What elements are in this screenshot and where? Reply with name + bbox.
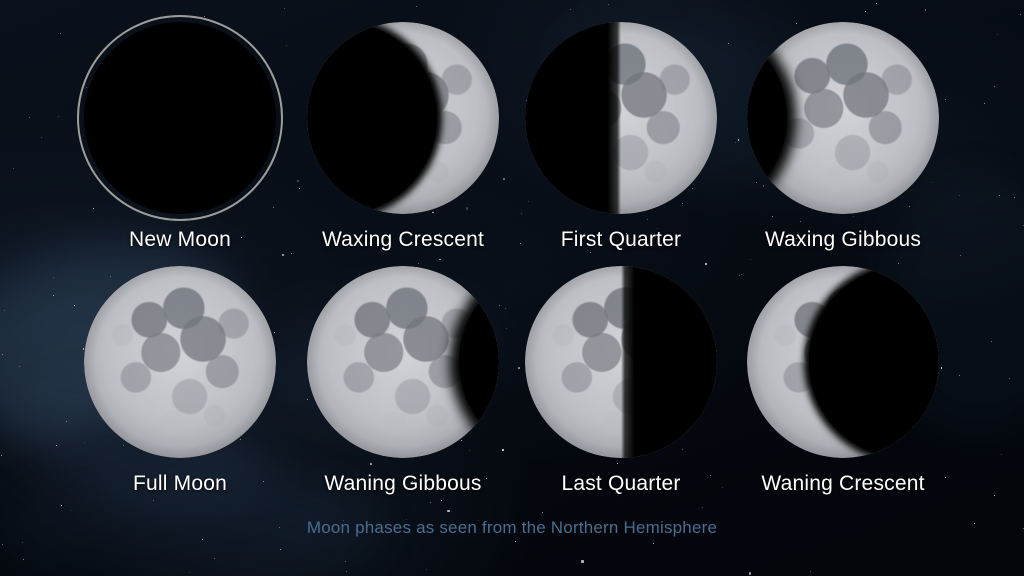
phase-label-waxing-crescent: Waxing Crescent bbox=[293, 228, 513, 252]
limb-darkening bbox=[84, 266, 276, 458]
new-moon-outline-ring bbox=[77, 15, 283, 221]
phase-cell-waning-crescent: Waning Crescent bbox=[733, 266, 953, 516]
terminator-shadow bbox=[809, 266, 939, 458]
star bbox=[23, 559, 24, 560]
star bbox=[653, 543, 654, 544]
terminator-shadow bbox=[307, 22, 437, 214]
moon-disk-waning-crescent bbox=[747, 266, 939, 458]
moon-disk-waning-gibbous bbox=[307, 266, 499, 458]
phase-label-full-moon: Full Moon bbox=[70, 472, 290, 496]
moon-disk-full-moon bbox=[84, 266, 276, 458]
star bbox=[2, 544, 3, 545]
star bbox=[749, 572, 751, 574]
phase-label-new-moon: New Moon bbox=[70, 228, 290, 252]
shadow-clip bbox=[525, 266, 717, 458]
star bbox=[426, 569, 427, 570]
star bbox=[876, 3, 878, 5]
star bbox=[214, 558, 216, 560]
shadow-clip bbox=[525, 22, 717, 214]
phase-cell-last-quarter: Last Quarter bbox=[511, 266, 731, 516]
shadow-clip bbox=[747, 22, 939, 214]
star bbox=[515, 541, 516, 542]
terminator-shadow bbox=[747, 22, 787, 214]
figure-caption: Moon phases as seen from the Northern He… bbox=[0, 518, 1024, 538]
phase-label-first-quarter: First Quarter bbox=[511, 228, 731, 252]
star bbox=[204, 16, 205, 17]
star bbox=[284, 8, 285, 9]
star bbox=[608, 4, 610, 6]
star bbox=[925, 9, 927, 11]
moon-disk-last-quarter bbox=[525, 266, 717, 458]
phase-cell-new-moon: New Moon bbox=[70, 22, 290, 272]
waning-row: Full Moon Waning Gibbous bbox=[0, 266, 1024, 516]
phase-label-waxing-gibbous: Waxing Gibbous bbox=[733, 228, 953, 252]
phase-cell-waning-gibbous: Waning Gibbous bbox=[293, 266, 513, 516]
phase-cell-waxing-crescent: Waxing Crescent bbox=[293, 22, 513, 272]
star bbox=[416, 6, 417, 7]
star bbox=[22, 542, 23, 543]
star bbox=[581, 560, 583, 562]
phase-label-last-quarter: Last Quarter bbox=[511, 472, 731, 496]
terminator-shadow bbox=[525, 22, 621, 214]
star bbox=[1020, 14, 1021, 15]
star bbox=[865, 11, 866, 12]
moon-disk-waxing-crescent bbox=[307, 22, 499, 214]
moon-phases-figure: New Moon Waxing Crescent bbox=[0, 0, 1024, 576]
waxing-row: New Moon Waxing Crescent bbox=[0, 22, 1024, 272]
star bbox=[280, 549, 281, 550]
star bbox=[345, 561, 346, 562]
phase-cell-full-moon: Full Moon bbox=[70, 266, 290, 516]
phase-cell-first-quarter: First Quarter bbox=[511, 22, 731, 272]
terminator-shadow bbox=[459, 266, 499, 458]
star bbox=[810, 571, 811, 572]
shadow-clip bbox=[747, 266, 939, 458]
phase-cell-waxing-gibbous: Waxing Gibbous bbox=[733, 22, 953, 272]
star bbox=[189, 572, 190, 573]
moon-disk-first-quarter bbox=[525, 22, 717, 214]
shadow-clip bbox=[307, 266, 499, 458]
terminator-shadow bbox=[621, 266, 717, 458]
star bbox=[202, 539, 203, 540]
phase-label-waning-crescent: Waning Crescent bbox=[733, 472, 953, 496]
moon-disk-waxing-gibbous bbox=[747, 22, 939, 214]
phase-label-waning-gibbous: Waning Gibbous bbox=[293, 472, 513, 496]
star bbox=[346, 571, 347, 572]
star bbox=[570, 9, 571, 10]
shadow-clip bbox=[307, 22, 499, 214]
